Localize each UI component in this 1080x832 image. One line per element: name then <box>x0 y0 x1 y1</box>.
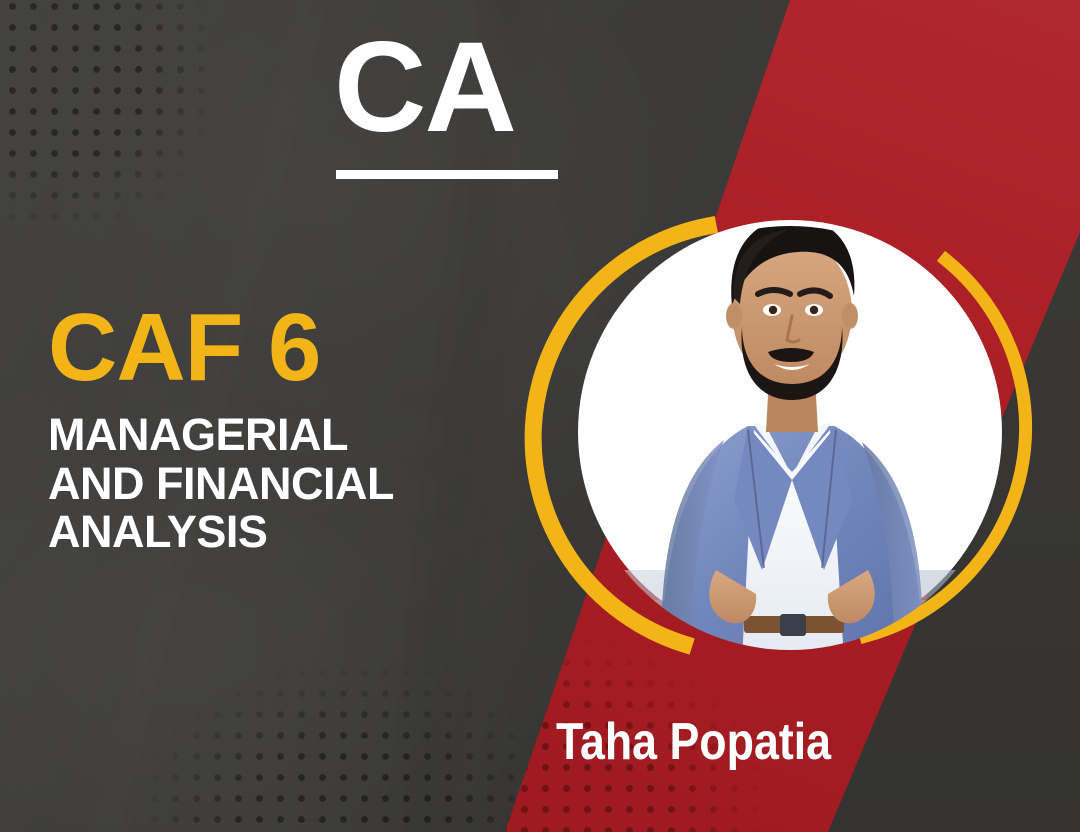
course-title-line-3: ANALYSIS <box>48 508 518 557</box>
instructor-name: Taha Popatia <box>556 712 831 772</box>
course-title-line-2: AND FINANCIAL <box>48 460 518 509</box>
course-banner: CA CAF 6 MANAGERIAL AND FINANCIAL ANALYS… <box>0 0 1080 832</box>
course-title-line-1: MANAGERIAL <box>48 411 518 460</box>
brand-logo-text: CA <box>334 24 515 152</box>
course-headline: CAF 6 MANAGERIAL AND FINANCIAL ANALYSIS <box>48 302 518 557</box>
course-code: CAF 6 <box>48 302 518 393</box>
instructor-photo <box>566 100 1026 700</box>
course-title: MANAGERIAL AND FINANCIAL ANALYSIS <box>48 411 518 557</box>
brand-logo-underline <box>336 170 558 179</box>
